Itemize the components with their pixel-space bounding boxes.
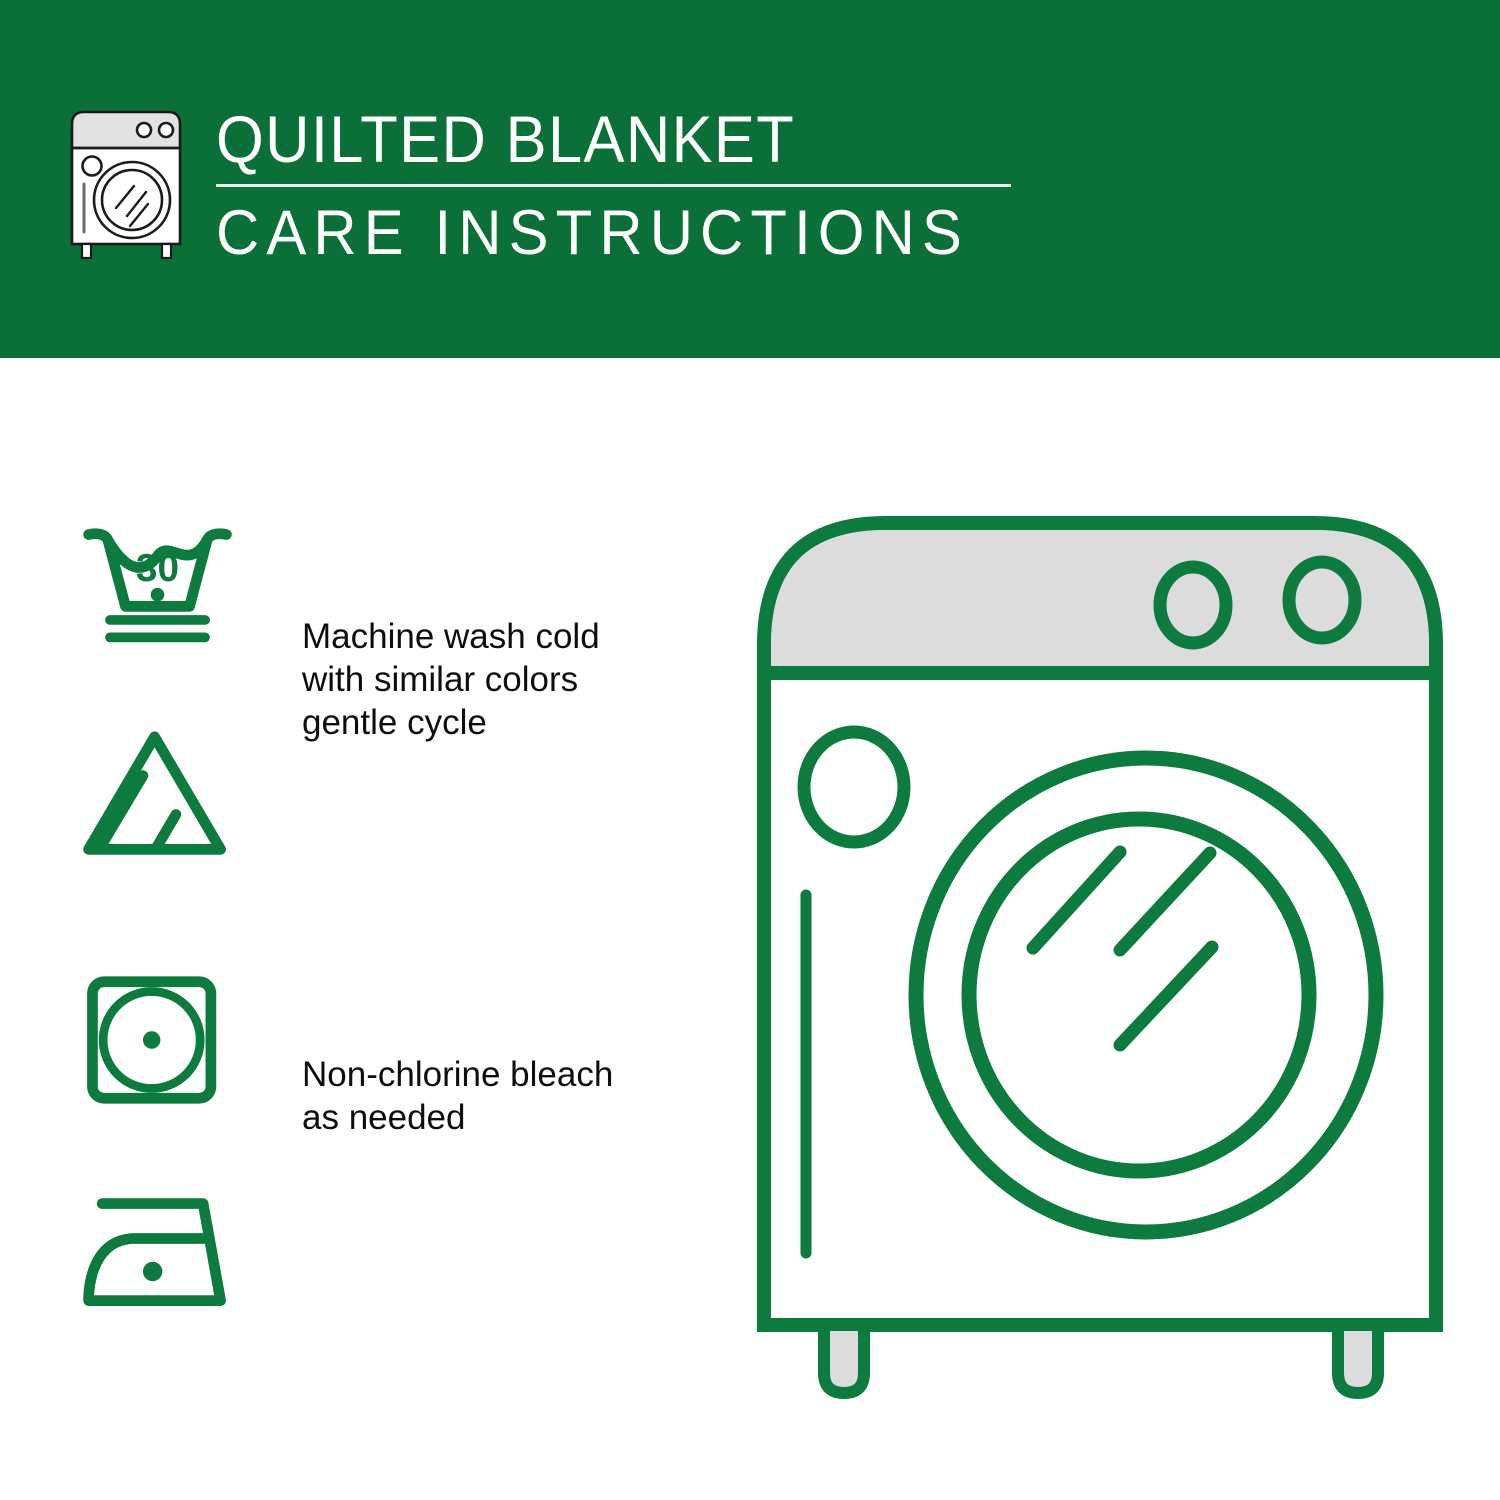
wash-temperature-label: 30 [136, 547, 179, 590]
header-text-block: QUILTED BLANKET CARE INSTRUCTIONS [216, 100, 1026, 271]
care-row-iron: Iron if needed low heat [0, 1180, 720, 1330]
care-instructions-page: QUILTED BLANKET CARE INSTRUCTIONS 30 [0, 0, 1500, 1500]
wash-tub-30-icon: 30 [75, 515, 240, 655]
title-divider [216, 184, 1011, 187]
care-row-wash: 30 Machine wash cold with similar colors… [0, 510, 720, 660]
care-text-line: Machine wash cold [302, 615, 717, 658]
page-subtitle: CARE INSTRUCTIONS [216, 195, 986, 271]
door-inner-ring [969, 819, 1309, 1171]
leg-right [1338, 1325, 1378, 1393]
care-row-bleach: Non-chlorine bleach as needed [0, 720, 720, 870]
detergent-indicator [804, 732, 904, 842]
tumble-dry-low-icon [75, 970, 240, 1110]
washing-machine-illustration [750, 495, 1450, 1415]
washing-machine-icon [64, 104, 194, 264]
knob-left [1160, 567, 1226, 643]
page-title: QUILTED BLANKET [216, 100, 969, 178]
care-text-line: with similar colors [302, 658, 717, 701]
header-band: QUILTED BLANKET CARE INSTRUCTIONS [0, 0, 1500, 358]
knob-right [1289, 562, 1355, 638]
iron-low-heat-icon [75, 1185, 240, 1325]
non-chlorine-bleach-triangle-icon [75, 725, 240, 865]
leg-left [824, 1325, 864, 1393]
care-row-tumble-dry: Tumble dry low heat [0, 965, 720, 1115]
